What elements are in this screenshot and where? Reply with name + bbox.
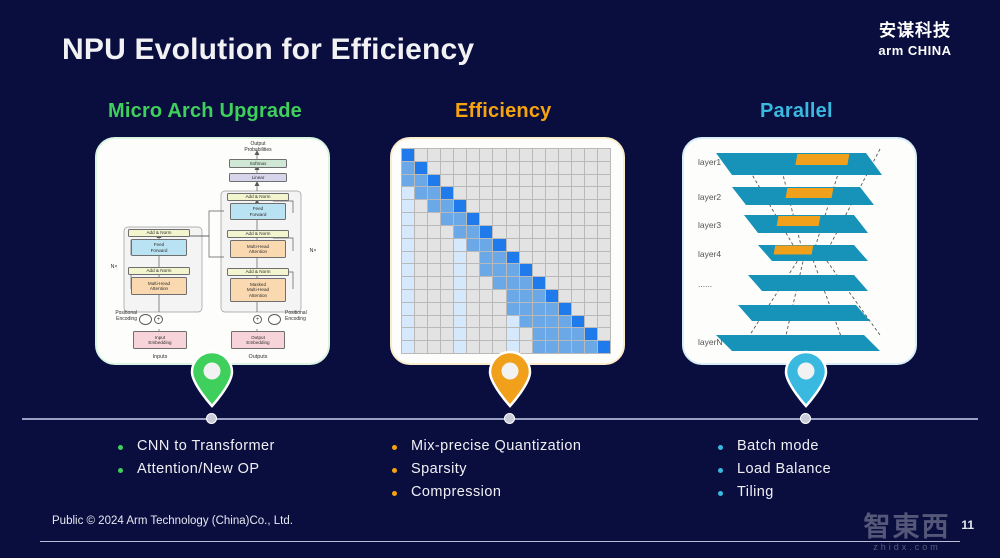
matrix-cell	[428, 200, 440, 212]
bullet-text: Sparsity	[411, 461, 467, 477]
matrix-cell	[559, 149, 571, 161]
matrix-cell	[598, 252, 610, 264]
matrix-cell	[546, 252, 558, 264]
matrix-cell	[441, 226, 453, 238]
matrix-cell	[559, 341, 571, 353]
matrix-cell	[546, 290, 558, 302]
matrix-cell	[585, 175, 597, 187]
matrix-cell	[572, 175, 584, 187]
footer-copyright: Public © 2024 Arm Technology (China)Co.,…	[52, 515, 293, 527]
matrix-cell	[598, 200, 610, 212]
bullet-dot-icon	[392, 468, 397, 473]
matrix-cell	[507, 277, 519, 289]
timeline-dot-1	[206, 413, 217, 424]
matrix-cell	[454, 252, 466, 264]
matrix-cell	[467, 187, 479, 199]
matrix-cell	[520, 264, 532, 276]
matrix-cell	[598, 277, 610, 289]
map-pin-efficiency	[488, 350, 532, 408]
matrix-cell	[533, 303, 545, 315]
matrix-cell	[507, 200, 519, 212]
matrix-cell	[546, 226, 558, 238]
pe-wave-right	[268, 314, 281, 325]
matrix-cell	[493, 162, 505, 174]
list-item: Tiling	[718, 484, 831, 500]
matrix-cell	[572, 149, 584, 161]
matrix-cell	[480, 328, 492, 340]
matrix-cell	[585, 149, 597, 161]
label-inputs: Inputs	[139, 354, 181, 360]
matrix-cell	[533, 213, 545, 225]
sparsity-grid	[401, 148, 611, 354]
bullet-text: CNN to Transformer	[137, 438, 275, 454]
column-header-parallel: Parallel	[760, 100, 833, 123]
matrix-cell	[493, 303, 505, 315]
matrix-cell	[533, 316, 545, 328]
matrix-cell	[585, 303, 597, 315]
map-pin-parallel	[784, 350, 828, 408]
matrix-cell	[454, 277, 466, 289]
box-decoder-feed-forward: FeedForward	[230, 203, 286, 220]
matrix-cell	[467, 252, 479, 264]
bullet-list-parallel: Batch mode Load Balance Tiling	[718, 438, 831, 507]
column-header-efficiency: Efficiency	[455, 100, 551, 123]
matrix-cell	[546, 239, 558, 251]
matrix-cell	[415, 175, 427, 187]
matrix-cell	[441, 239, 453, 251]
transformer-architecture: OutputProbabilities Softmax Linear Add &…	[97, 139, 328, 363]
list-item: Compression	[392, 484, 581, 500]
matrix-cell	[572, 226, 584, 238]
matrix-cell	[454, 341, 466, 353]
matrix-cell	[559, 252, 571, 264]
matrix-cell	[415, 277, 427, 289]
matrix-cell	[454, 316, 466, 328]
matrix-cell	[585, 239, 597, 251]
matrix-cell	[415, 252, 427, 264]
matrix-cell	[402, 239, 414, 251]
matrix-cell	[441, 328, 453, 340]
matrix-cell	[493, 290, 505, 302]
matrix-cell	[428, 149, 440, 161]
matrix-cell	[598, 213, 610, 225]
matrix-cell	[546, 149, 558, 161]
matrix-cell	[546, 277, 558, 289]
bullet-list-efficiency: Mix-precise Quantization Sparsity Compre…	[392, 438, 581, 507]
matrix-cell	[585, 187, 597, 199]
matrix-cell	[454, 175, 466, 187]
matrix-cell	[520, 316, 532, 328]
matrix-cell	[559, 175, 571, 187]
matrix-cell	[585, 162, 597, 174]
card-sparsity-matrix	[390, 137, 625, 365]
watermark-domain: zhidx.com	[832, 542, 982, 552]
matrix-cell	[454, 264, 466, 276]
matrix-cell	[441, 213, 453, 225]
bullet-dot-icon	[118, 445, 123, 450]
matrix-cell	[533, 264, 545, 276]
matrix-cell	[428, 316, 440, 328]
matrix-cell	[480, 175, 492, 187]
matrix-cell	[533, 149, 545, 161]
matrix-cell	[546, 316, 558, 328]
matrix-cell	[428, 264, 440, 276]
matrix-cell	[454, 162, 466, 174]
matrix-cell	[428, 252, 440, 264]
matrix-cell	[454, 226, 466, 238]
matrix-cell	[520, 149, 532, 161]
matrix-cell	[598, 187, 610, 199]
logo-arm-text: arm	[878, 43, 903, 58]
matrix-cell	[559, 200, 571, 212]
sum-node-left: +	[154, 315, 163, 324]
matrix-cell	[454, 149, 466, 161]
matrix-cell	[467, 226, 479, 238]
bullet-text: Load Balance	[737, 461, 831, 477]
matrix-cell	[480, 316, 492, 328]
matrix-cell	[533, 290, 545, 302]
page-title: NPU Evolution for Efficiency	[62, 33, 474, 67]
matrix-cell	[415, 200, 427, 212]
matrix-cell	[598, 226, 610, 238]
matrix-cell	[520, 162, 532, 174]
matrix-cell	[546, 200, 558, 212]
matrix-cell	[507, 239, 519, 251]
box-encoder-add-norm-2: Add & Norm	[128, 229, 190, 237]
matrix-cell	[493, 149, 505, 161]
matrix-cell	[480, 264, 492, 276]
matrix-cell	[467, 303, 479, 315]
matrix-cell	[467, 290, 479, 302]
bullet-dot-icon	[392, 445, 397, 450]
matrix-cell	[559, 328, 571, 340]
matrix-cell	[493, 226, 505, 238]
matrix-cell	[441, 264, 453, 276]
footer-divider	[40, 541, 960, 542]
box-decoder-masked-multi-head-attention: MaskedMulti-HeadAttention	[230, 278, 286, 302]
matrix-cell	[585, 328, 597, 340]
matrix-cell	[546, 162, 558, 174]
bullet-dot-icon	[392, 491, 397, 496]
matrix-cell	[507, 328, 519, 340]
matrix-cell	[428, 226, 440, 238]
matrix-cell	[572, 213, 584, 225]
matrix-cell	[598, 162, 610, 174]
matrix-cell	[467, 264, 479, 276]
box-linear: Linear	[229, 173, 287, 182]
matrix-cell	[415, 187, 427, 199]
matrix-cell	[585, 200, 597, 212]
matrix-cell	[585, 341, 597, 353]
matrix-cell	[520, 328, 532, 340]
matrix-cell	[520, 290, 532, 302]
matrix-cell	[559, 264, 571, 276]
matrix-cell	[585, 252, 597, 264]
column-header-micro-arch: Micro Arch Upgrade	[108, 100, 302, 123]
matrix-cell	[415, 226, 427, 238]
matrix-cell	[402, 303, 414, 315]
matrix-cell	[507, 187, 519, 199]
box-decoder-multi-head-attention: Multi-HeadAttention	[230, 240, 286, 258]
matrix-cell	[480, 239, 492, 251]
matrix-cell	[480, 277, 492, 289]
logo-chinese-text: 安谋科技	[850, 22, 980, 41]
matrix-cell	[441, 277, 453, 289]
matrix-cell	[598, 328, 610, 340]
matrix-cell	[467, 316, 479, 328]
matrix-cell	[480, 226, 492, 238]
matrix-cell	[454, 213, 466, 225]
matrix-cell	[598, 316, 610, 328]
label-positional-encoding-right: PositionalEncoding	[285, 311, 329, 323]
matrix-cell	[402, 252, 414, 264]
matrix-cell	[559, 187, 571, 199]
matrix-cell	[546, 213, 558, 225]
matrix-cell	[520, 187, 532, 199]
label-outputs: Outputs	[237, 354, 279, 360]
matrix-cell	[507, 303, 519, 315]
matrix-cell	[480, 303, 492, 315]
matrix-cell	[428, 213, 440, 225]
matrix-cell	[441, 290, 453, 302]
matrix-cell	[572, 277, 584, 289]
bullet-dot-icon	[118, 468, 123, 473]
matrix-cell	[428, 187, 440, 199]
matrix-cell	[467, 328, 479, 340]
matrix-cell	[402, 149, 414, 161]
pe-wave-left	[139, 314, 152, 325]
matrix-cell	[493, 328, 505, 340]
matrix-cell	[559, 213, 571, 225]
matrix-cell	[415, 239, 427, 251]
matrix-cell	[572, 328, 584, 340]
matrix-cell	[428, 328, 440, 340]
matrix-cell	[546, 341, 558, 353]
matrix-cell	[598, 175, 610, 187]
matrix-cell	[546, 264, 558, 276]
matrix-cell	[441, 303, 453, 315]
matrix-cell	[402, 213, 414, 225]
matrix-cell	[572, 303, 584, 315]
matrix-cell	[598, 264, 610, 276]
matrix-cell	[467, 341, 479, 353]
matrix-cell	[507, 290, 519, 302]
matrix-cell	[467, 162, 479, 174]
matrix-cell	[467, 175, 479, 187]
matrix-cell	[598, 149, 610, 161]
timeline-dot-3	[800, 413, 811, 424]
matrix-cell	[402, 328, 414, 340]
box-decoder-add-norm-3: Add & Norm	[227, 193, 289, 201]
matrix-cell	[585, 226, 597, 238]
matrix-cell	[402, 200, 414, 212]
matrix-cell	[546, 187, 558, 199]
matrix-cell	[572, 264, 584, 276]
logo-china-text: CHINA	[908, 43, 952, 58]
matrix-cell	[402, 187, 414, 199]
matrix-cell	[454, 290, 466, 302]
matrix-cell	[572, 290, 584, 302]
matrix-cell	[520, 252, 532, 264]
matrix-cell	[533, 277, 545, 289]
box-decoder-add-norm-1: Add & Norm	[227, 268, 289, 276]
matrix-cell	[598, 239, 610, 251]
matrix-cell	[415, 162, 427, 174]
matrix-cell	[533, 226, 545, 238]
matrix-cell	[533, 162, 545, 174]
logo-english-text: arm CHINA	[850, 43, 980, 58]
matrix-cell	[572, 187, 584, 199]
matrix-cell	[533, 252, 545, 264]
matrix-cell	[428, 341, 440, 353]
matrix-cell	[441, 187, 453, 199]
matrix-cell	[402, 264, 414, 276]
matrix-cell	[493, 200, 505, 212]
list-item: Attention/New OP	[118, 461, 275, 477]
matrix-cell	[585, 316, 597, 328]
bullet-dot-icon	[718, 445, 723, 450]
bullet-text: Attention/New OP	[137, 461, 259, 477]
bullet-dot-icon	[718, 468, 723, 473]
matrix-cell	[467, 213, 479, 225]
matrix-cell	[598, 303, 610, 315]
matrix-cell	[454, 328, 466, 340]
matrix-cell	[507, 252, 519, 264]
matrix-cell	[428, 277, 440, 289]
watermark-chinese: 智東西	[832, 514, 982, 541]
matrix-cell	[533, 239, 545, 251]
map-pin-micro-arch	[190, 350, 234, 408]
matrix-cell	[520, 200, 532, 212]
matrix-cell	[402, 290, 414, 302]
matrix-cell	[480, 213, 492, 225]
matrix-cell	[572, 341, 584, 353]
timeline-rule	[22, 418, 978, 420]
matrix-cell	[441, 149, 453, 161]
list-item: Load Balance	[718, 461, 831, 477]
matrix-cell	[493, 316, 505, 328]
box-input-embedding: InputEmbedding	[133, 331, 187, 349]
parallel-layer-stack: layer1 layer2 layer3 layer4 ...... layer…	[684, 139, 915, 363]
matrix-cell	[415, 149, 427, 161]
matrix-cell	[493, 264, 505, 276]
list-item: CNN to Transformer	[118, 438, 275, 454]
matrix-cell	[585, 213, 597, 225]
matrix-cell	[533, 341, 545, 353]
matrix-cell	[441, 316, 453, 328]
matrix-cell	[520, 226, 532, 238]
matrix-cell	[559, 162, 571, 174]
matrix-cell	[493, 239, 505, 251]
matrix-cell	[467, 200, 479, 212]
layer-label-2: layer2	[698, 192, 721, 202]
matrix-cell	[493, 175, 505, 187]
label-nx-decoder: N×	[304, 249, 322, 255]
matrix-cell	[402, 316, 414, 328]
layer-label-4: layer4	[698, 249, 721, 259]
label-positional-encoding-left: PositionalEncoding	[99, 311, 137, 323]
matrix-cell	[441, 200, 453, 212]
matrix-cell	[480, 252, 492, 264]
bullet-text: Tiling	[737, 484, 774, 500]
matrix-cell	[507, 226, 519, 238]
matrix-cell	[559, 303, 571, 315]
slide-root: NPU Evolution for Efficiency 安谋科技 arm CH…	[0, 0, 1000, 558]
matrix-cell	[480, 187, 492, 199]
box-output-embedding: OutputEmbedding	[231, 331, 285, 349]
matrix-cell	[572, 162, 584, 174]
arm-china-logo: 安谋科技 arm CHINA	[850, 22, 980, 58]
matrix-cell	[493, 277, 505, 289]
matrix-cell	[572, 252, 584, 264]
matrix-cell	[441, 162, 453, 174]
matrix-cell	[428, 162, 440, 174]
matrix-cell	[415, 213, 427, 225]
sum-node-right: +	[253, 315, 262, 324]
matrix-cell	[507, 316, 519, 328]
layer-label-ellipsis: ......	[698, 279, 712, 289]
matrix-cell	[520, 277, 532, 289]
matrix-cell	[585, 290, 597, 302]
matrix-cell	[520, 213, 532, 225]
bullet-text: Compression	[411, 484, 501, 500]
bullet-text: Mix-precise Quantization	[411, 438, 581, 454]
matrix-cell	[598, 341, 610, 353]
matrix-cell	[402, 277, 414, 289]
matrix-cell	[402, 175, 414, 187]
card-parallel-layers: layer1 layer2 layer3 layer4 ...... layer…	[682, 137, 917, 365]
matrix-cell	[467, 239, 479, 251]
matrix-cell	[493, 252, 505, 264]
label-nx-encoder: N×	[105, 265, 123, 271]
matrix-cell	[559, 226, 571, 238]
matrix-cell	[428, 239, 440, 251]
matrix-cell	[493, 213, 505, 225]
matrix-cell	[415, 290, 427, 302]
matrix-cell	[520, 303, 532, 315]
matrix-cell	[572, 200, 584, 212]
list-item: Sparsity	[392, 461, 581, 477]
matrix-cell	[402, 226, 414, 238]
matrix-cell	[441, 175, 453, 187]
matrix-cell	[546, 175, 558, 187]
matrix-cell	[533, 328, 545, 340]
list-item: Mix-precise Quantization	[392, 438, 581, 454]
box-softmax: Softmax	[229, 159, 287, 168]
matrix-cell	[415, 316, 427, 328]
matrix-cell	[572, 316, 584, 328]
matrix-cell	[533, 175, 545, 187]
label-output-probabilities: OutputProbabilities	[225, 142, 291, 154]
layer-label-n: layerN	[698, 337, 723, 347]
matrix-cell	[572, 239, 584, 251]
matrix-cell	[493, 187, 505, 199]
bullet-list-micro-arch: CNN to Transformer Attention/New OP	[118, 438, 275, 484]
matrix-cell	[585, 264, 597, 276]
matrix-cell	[415, 341, 427, 353]
card-transformer-diagram: OutputProbabilities Softmax Linear Add &…	[95, 137, 330, 365]
matrix-cell	[454, 200, 466, 212]
matrix-cell	[520, 239, 532, 251]
matrix-cell	[507, 175, 519, 187]
matrix-cell	[441, 341, 453, 353]
timeline-dot-2	[504, 413, 515, 424]
matrix-cell	[533, 187, 545, 199]
matrix-cell	[559, 290, 571, 302]
matrix-cell	[454, 239, 466, 251]
matrix-cell	[507, 213, 519, 225]
matrix-cell	[402, 341, 414, 353]
